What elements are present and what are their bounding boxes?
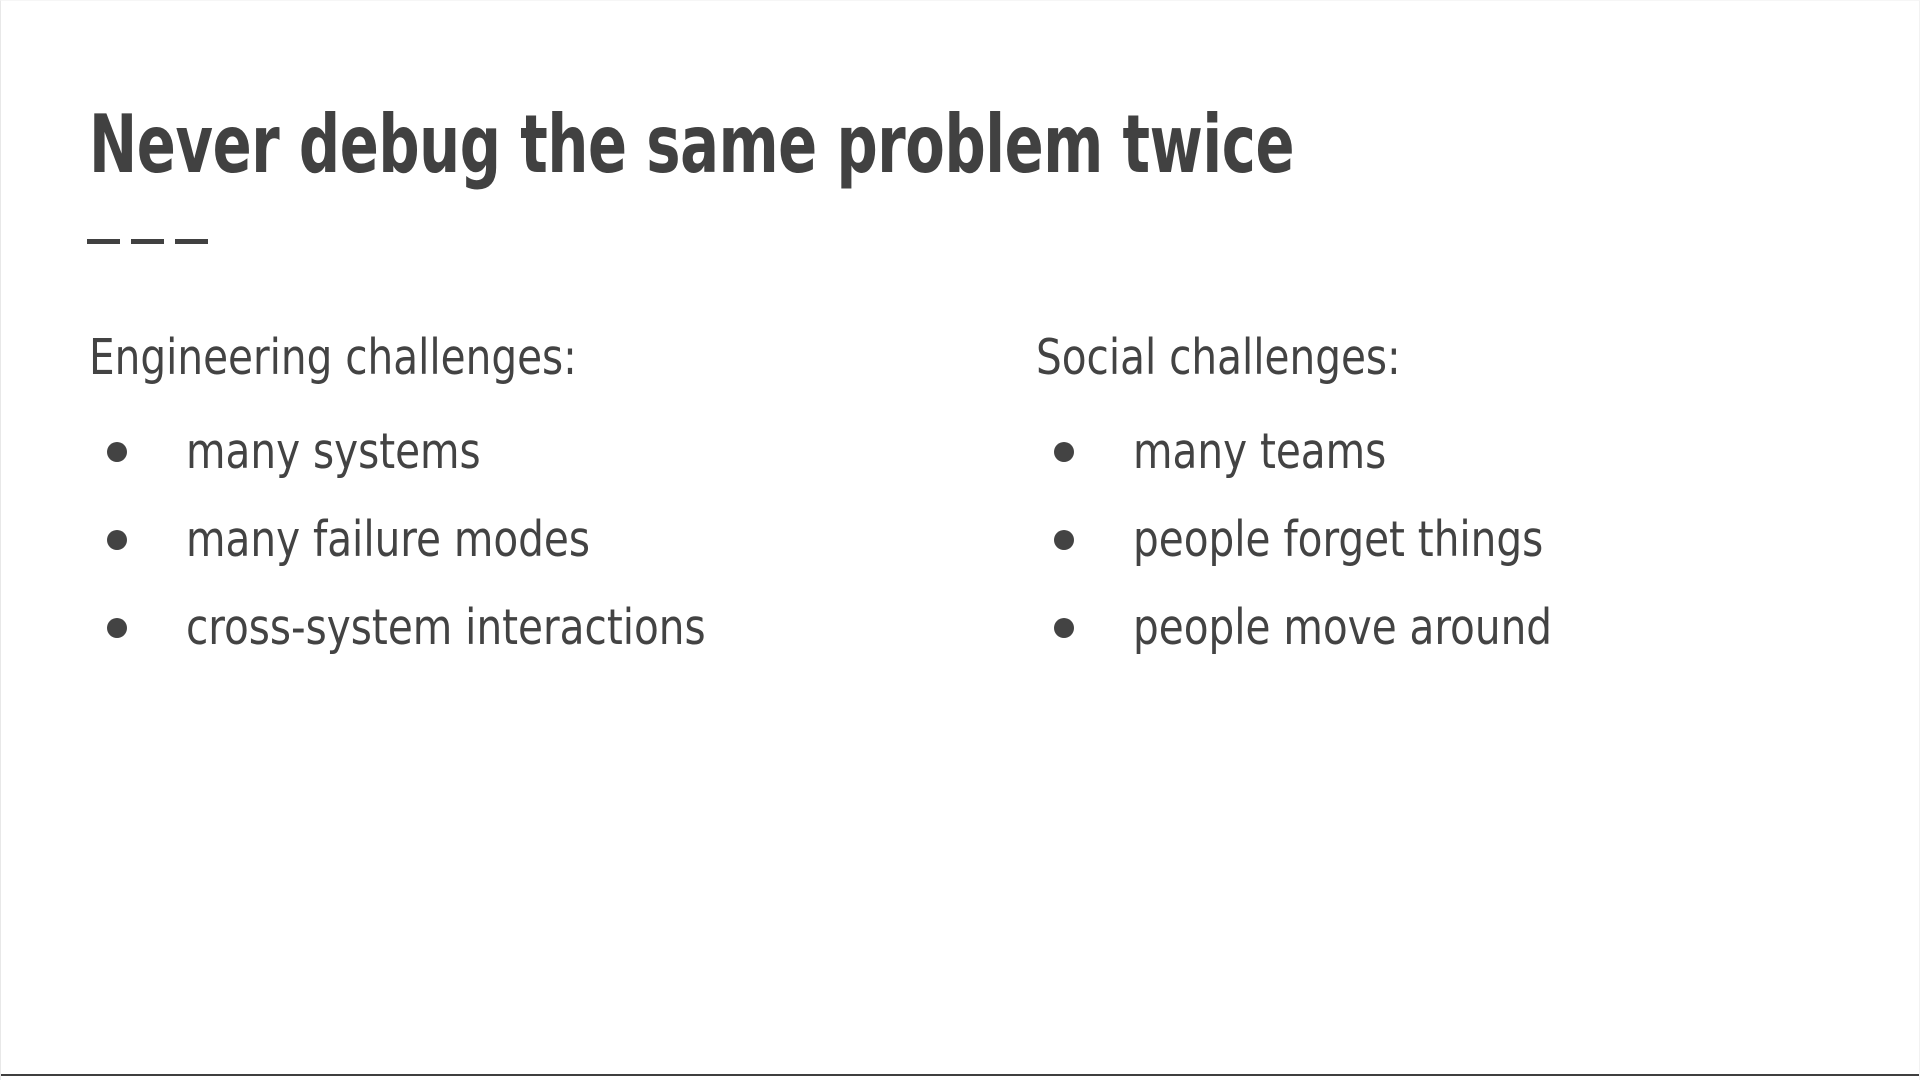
list-item: many failure modes — [89, 496, 949, 584]
list-item-label: many teams — [1133, 425, 1386, 479]
column-engineering-challenges: Engineering challenges: many systems man… — [89, 331, 949, 672]
bullet-point-icon — [107, 530, 127, 550]
column-heading-engineering: Engineering challenges: — [89, 331, 880, 386]
list-item-label: people forget things — [1133, 513, 1543, 567]
list-item: many teams — [1036, 408, 1866, 496]
bullet-point-icon — [1054, 530, 1074, 550]
list-item-label: people move around — [1133, 601, 1552, 655]
column-social-challenges: Social challenges: many teams people for… — [1036, 331, 1866, 672]
column-heading-social: Social challenges: — [1036, 331, 1800, 386]
page-title: Never debug the same problem twice — [89, 105, 1294, 185]
list-item: people forget things — [1036, 496, 1866, 584]
title-divider — [87, 239, 208, 244]
list-item-label: many systems — [186, 425, 481, 479]
bullet-point-icon — [1054, 618, 1074, 638]
list-item-label: cross-system interactions — [186, 601, 706, 655]
list-item: cross-system interactions — [89, 584, 949, 672]
slide: Never debug the same problem twice Engin… — [0, 0, 1920, 1080]
bullet-list-social: many teams people forget things people m… — [1036, 408, 1866, 672]
list-item: people move around — [1036, 584, 1866, 672]
list-item-label: many failure modes — [186, 513, 590, 567]
em-dash-icon — [131, 239, 164, 244]
bullet-point-icon — [107, 618, 127, 638]
em-dash-icon — [87, 239, 120, 244]
bullet-point-icon — [1054, 442, 1074, 462]
em-dash-icon — [175, 239, 208, 244]
slide-bottom-rule — [1, 1074, 1919, 1076]
list-item: many systems — [89, 408, 949, 496]
bullet-point-icon — [107, 442, 127, 462]
bullet-list-engineering: many systems many failure modes cross-sy… — [89, 408, 949, 672]
